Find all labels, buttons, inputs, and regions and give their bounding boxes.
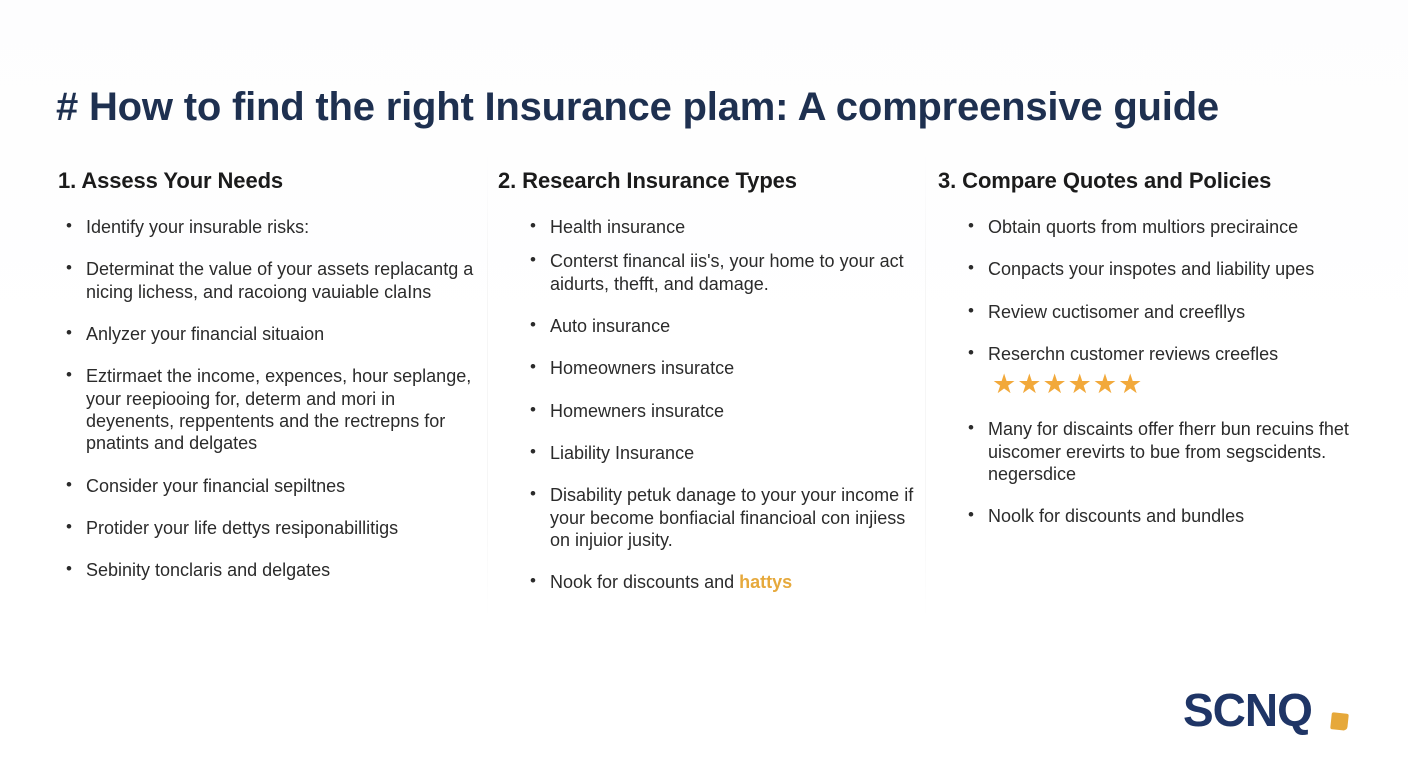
bullet-text: Review cuctisomer and creefllys bbox=[988, 302, 1245, 322]
page-title: # How to find the right Insurance plam: … bbox=[56, 85, 1219, 130]
list-item: Reserchn customer reviews creefles bbox=[966, 343, 1358, 365]
list-item: Liability Insurance bbox=[528, 442, 918, 464]
bullet-text: Conterst financal iis's, your home to yo… bbox=[550, 251, 904, 293]
list-item: Identify your insurable risks: bbox=[64, 216, 478, 238]
list-item: Eztirmaet the income, expences, hour sep… bbox=[64, 365, 478, 454]
bullet-list-3: Obtain quorts from multiors preciraince … bbox=[938, 216, 1358, 528]
star-icon: ★ bbox=[1118, 371, 1142, 398]
list-item: Conpacts your inspotes and liability upe… bbox=[966, 258, 1358, 280]
logo-wordmark: SCNQ bbox=[1183, 684, 1312, 736]
bullet-text: Eztirmaet the income, expences, hour sep… bbox=[86, 366, 471, 453]
list-item: Obtain quorts from multiors preciraince bbox=[966, 216, 1358, 238]
list-item: Auto insurance bbox=[528, 315, 918, 337]
bullet-text: Noolk for discounts and bundles bbox=[988, 506, 1244, 526]
list-item: Protider your life dettys resiponabillit… bbox=[64, 517, 478, 539]
column-assess-your-needs: 1. Assess Your Needs Identify your insur… bbox=[58, 168, 478, 601]
bullet-text: Reserchn customer reviews creefles bbox=[988, 344, 1278, 364]
column-compare-quotes-and-policies: 3. Compare Quotes and Policies Obtain qu… bbox=[938, 168, 1358, 548]
bullet-text: Sebinity tonclaris and delgates bbox=[86, 560, 330, 580]
list-item: Review cuctisomer and creefllys bbox=[966, 301, 1358, 323]
bullet-text: Liability Insurance bbox=[550, 443, 694, 463]
list-item: Disability petuk danage to your your inc… bbox=[528, 484, 918, 551]
list-item: Conterst financal iis's, your home to yo… bbox=[528, 250, 918, 295]
bullet-text: Disability petuk danage to your your inc… bbox=[550, 485, 913, 550]
bullet-text: Obtain quorts from multiors preciraince bbox=[988, 217, 1298, 237]
star-icon: ★ bbox=[1068, 371, 1092, 398]
list-item: Noolk for discounts and bundles bbox=[966, 505, 1358, 527]
column-heading-3: 3. Compare Quotes and Policies bbox=[938, 168, 1358, 194]
star-icon: ★ bbox=[1017, 371, 1041, 398]
list-item: Homeowners insuratce bbox=[528, 357, 918, 379]
star-icon: ★ bbox=[1042, 371, 1066, 398]
bullet-text: Determinat the value of your assets repl… bbox=[86, 259, 473, 301]
column-heading-2: 2. Research Insurance Types bbox=[498, 168, 918, 194]
star-icon: ★ bbox=[1093, 371, 1117, 398]
star-icon: ★ bbox=[992, 371, 1016, 398]
bullet-list-2: Health insurance Conterst financal iis's… bbox=[498, 216, 918, 593]
bullet-text: Identify your insurable risks: bbox=[86, 217, 309, 237]
bullet-list-1: Identify your insurable risks: Determina… bbox=[58, 216, 478, 581]
list-item: Consider your financial sepiltnes bbox=[64, 475, 478, 497]
column-research-insurance-types: 2. Research Insurance Types Health insur… bbox=[498, 168, 918, 613]
highlighted-term: hattys bbox=[739, 572, 792, 592]
column-heading-1: 1. Assess Your Needs bbox=[58, 168, 478, 194]
list-item: Anlyzer your financial situaion bbox=[64, 323, 478, 345]
list-item: Homewners insuratce bbox=[528, 400, 918, 422]
bullet-text: Many for discaints offer fherr bun recui… bbox=[988, 419, 1349, 484]
list-item: Sebinity tonclaris and delgates bbox=[64, 559, 478, 581]
bullet-text: Homewners insuratce bbox=[550, 401, 724, 421]
bullet-text: Homeowners insuratce bbox=[550, 358, 734, 378]
bullet-text: Health insurance bbox=[550, 217, 685, 237]
columns-container: 1. Assess Your Needs Identify your insur… bbox=[0, 168, 1408, 638]
bullet-text: Auto insurance bbox=[550, 316, 670, 336]
list-item: Determinat the value of your assets repl… bbox=[64, 258, 478, 303]
bullet-text: Conpacts your inspotes and liability upe… bbox=[988, 259, 1314, 279]
bullet-text: Anlyzer your financial situaion bbox=[86, 324, 324, 344]
brand-logo: SCNQ bbox=[1183, 684, 1353, 736]
bullet-text: Consider your financial sepiltnes bbox=[86, 476, 345, 496]
star-rating: ★★★★★★ bbox=[992, 371, 1358, 398]
list-item: Health insurance bbox=[528, 216, 918, 238]
bullet-text: Protider your life dettys resiponabillit… bbox=[86, 518, 398, 538]
logo-accent-mark bbox=[1330, 712, 1349, 731]
slide-canvas: # How to find the right Insurance plam: … bbox=[0, 0, 1408, 768]
list-item: Many for discaints offer fherr bun recui… bbox=[966, 418, 1358, 485]
bullet-text: Nook for discounts and bbox=[550, 572, 739, 592]
list-item: Nook for discounts and hattys bbox=[528, 571, 918, 593]
